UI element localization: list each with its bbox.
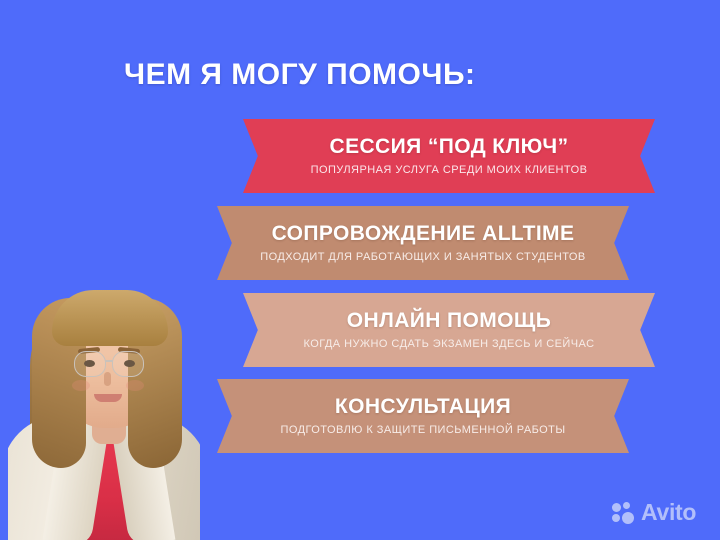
service-banner-4-title: КОНСУЛЬТАЦИЯ [335, 396, 511, 419]
service-banner-3-title: ОНЛАЙН ПОМОЩЬ [347, 310, 551, 333]
mouth [94, 394, 122, 402]
service-banner-2[interactable]: СОПРОВОЖДЕНИЕ ALLTIME ПОДХОДИТ ДЛЯ РАБОТ… [217, 206, 629, 280]
service-banner-3[interactable]: ОНЛАЙН ПОМОЩЬ КОГДА НУЖНО СДАТЬ ЭКЗАМЕН … [243, 293, 655, 367]
eyeglasses-bridge [105, 360, 113, 362]
cheek-right [126, 380, 144, 391]
service-banner-2-title: СОПРОВОЖДЕНИЕ ALLTIME [272, 223, 575, 246]
avito-wordmark: Avito [641, 501, 696, 524]
service-banner-3-subtitle: КОГДА НУЖНО СДАТЬ ЭКЗАМЕН ЗДЕСЬ И СЕЙЧАС [303, 338, 594, 350]
service-banner-1[interactable]: СЕССИЯ “ПОД КЛЮЧ” ПОПУЛЯРНАЯ УСЛУГА СРЕД… [243, 119, 655, 193]
avito-dots-icon [612, 502, 636, 524]
hair-top [52, 290, 168, 346]
avito-watermark: Avito [612, 501, 696, 524]
service-banner-1-subtitle: ПОПУЛЯРНАЯ УСЛУГА СРЕДИ МОИХ КЛИЕНТОВ [311, 164, 588, 176]
service-banner-4-subtitle: ПОДГОТОВЛЮ К ЗАЩИТЕ ПИСЬМЕННОЙ РАБОТЫ [280, 424, 565, 436]
cheek-left [72, 380, 90, 391]
service-banner-2-subtitle: ПОДХОДИТ ДЛЯ РАБОТАЮЩИХ И ЗАНЯТЫХ СТУДЕН… [260, 251, 585, 263]
page-title: ЧЕМ Я МОГУ ПОМОЧЬ: [124, 58, 476, 92]
service-banner-1-title: СЕССИЯ “ПОД КЛЮЧ” [330, 136, 569, 159]
nose [104, 372, 111, 386]
eyeglasses-lens-right [112, 351, 144, 377]
eyeglasses-lens-left [74, 351, 106, 377]
promo-slide: ЧЕМ Я МОГУ ПОМОЧЬ: СЕССИЯ “ПОД КЛЮЧ” ПОП… [0, 0, 720, 540]
presenter-photo [8, 288, 200, 540]
service-banner-4[interactable]: КОНСУЛЬТАЦИЯ ПОДГОТОВЛЮ К ЗАЩИТЕ ПИСЬМЕН… [217, 379, 629, 453]
